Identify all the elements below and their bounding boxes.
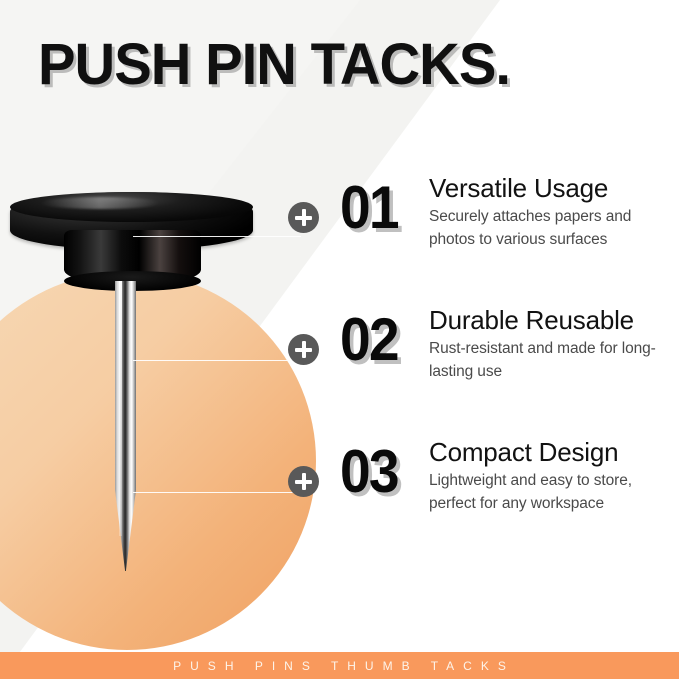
feature-title: Durable Reusable: [429, 306, 679, 335]
feature-item-1: 01 Versatile Usage Securely attaches pap…: [288, 170, 679, 302]
feature-item-2: 02 Durable Reusable Rust-resistant and m…: [288, 302, 679, 434]
feature-text-block: Versatile Usage Securely attaches papers…: [429, 174, 679, 251]
feature-text-block: Compact Design Lightweight and easy to s…: [429, 438, 679, 515]
feature-item-3: 03 Compact Design Lightweight and easy t…: [288, 434, 679, 566]
page-title: PUSH PIN TACKS.: [38, 36, 510, 94]
bottom-banner: PUSH PINS THUMB TACKS: [0, 652, 679, 679]
feature-number: 01: [340, 178, 398, 238]
feature-description: Securely attaches papers and photos to v…: [429, 206, 679, 251]
connector-line-2: [133, 360, 301, 361]
feature-description: Lightweight and easy to store, perfect f…: [429, 470, 679, 515]
connector-line-1: [133, 236, 301, 237]
pin-needle-highlight: [119, 281, 122, 536]
feature-text-block: Durable Reusable Rust-resistant and made…: [429, 306, 679, 383]
feature-title: Compact Design: [429, 438, 679, 467]
product-infographic: PUSH PIN TACKS. 01 Versatile Usage Secur…: [0, 0, 679, 679]
plus-icon[interactable]: [288, 466, 319, 497]
feature-number: 03: [340, 442, 398, 502]
plus-icon[interactable]: [288, 334, 319, 365]
connector-line-3: [133, 492, 301, 493]
push-pin-product-image: [0, 185, 290, 585]
feature-number: 02: [340, 310, 398, 370]
banner-text: PUSH PINS THUMB TACKS: [164, 659, 515, 673]
pin-head-gloss: [40, 197, 160, 209]
plus-icon[interactable]: [288, 202, 319, 233]
feature-list: 01 Versatile Usage Securely attaches pap…: [288, 170, 679, 566]
feature-title: Versatile Usage: [429, 174, 679, 203]
feature-description: Rust-resistant and made for long-lasting…: [429, 338, 679, 383]
